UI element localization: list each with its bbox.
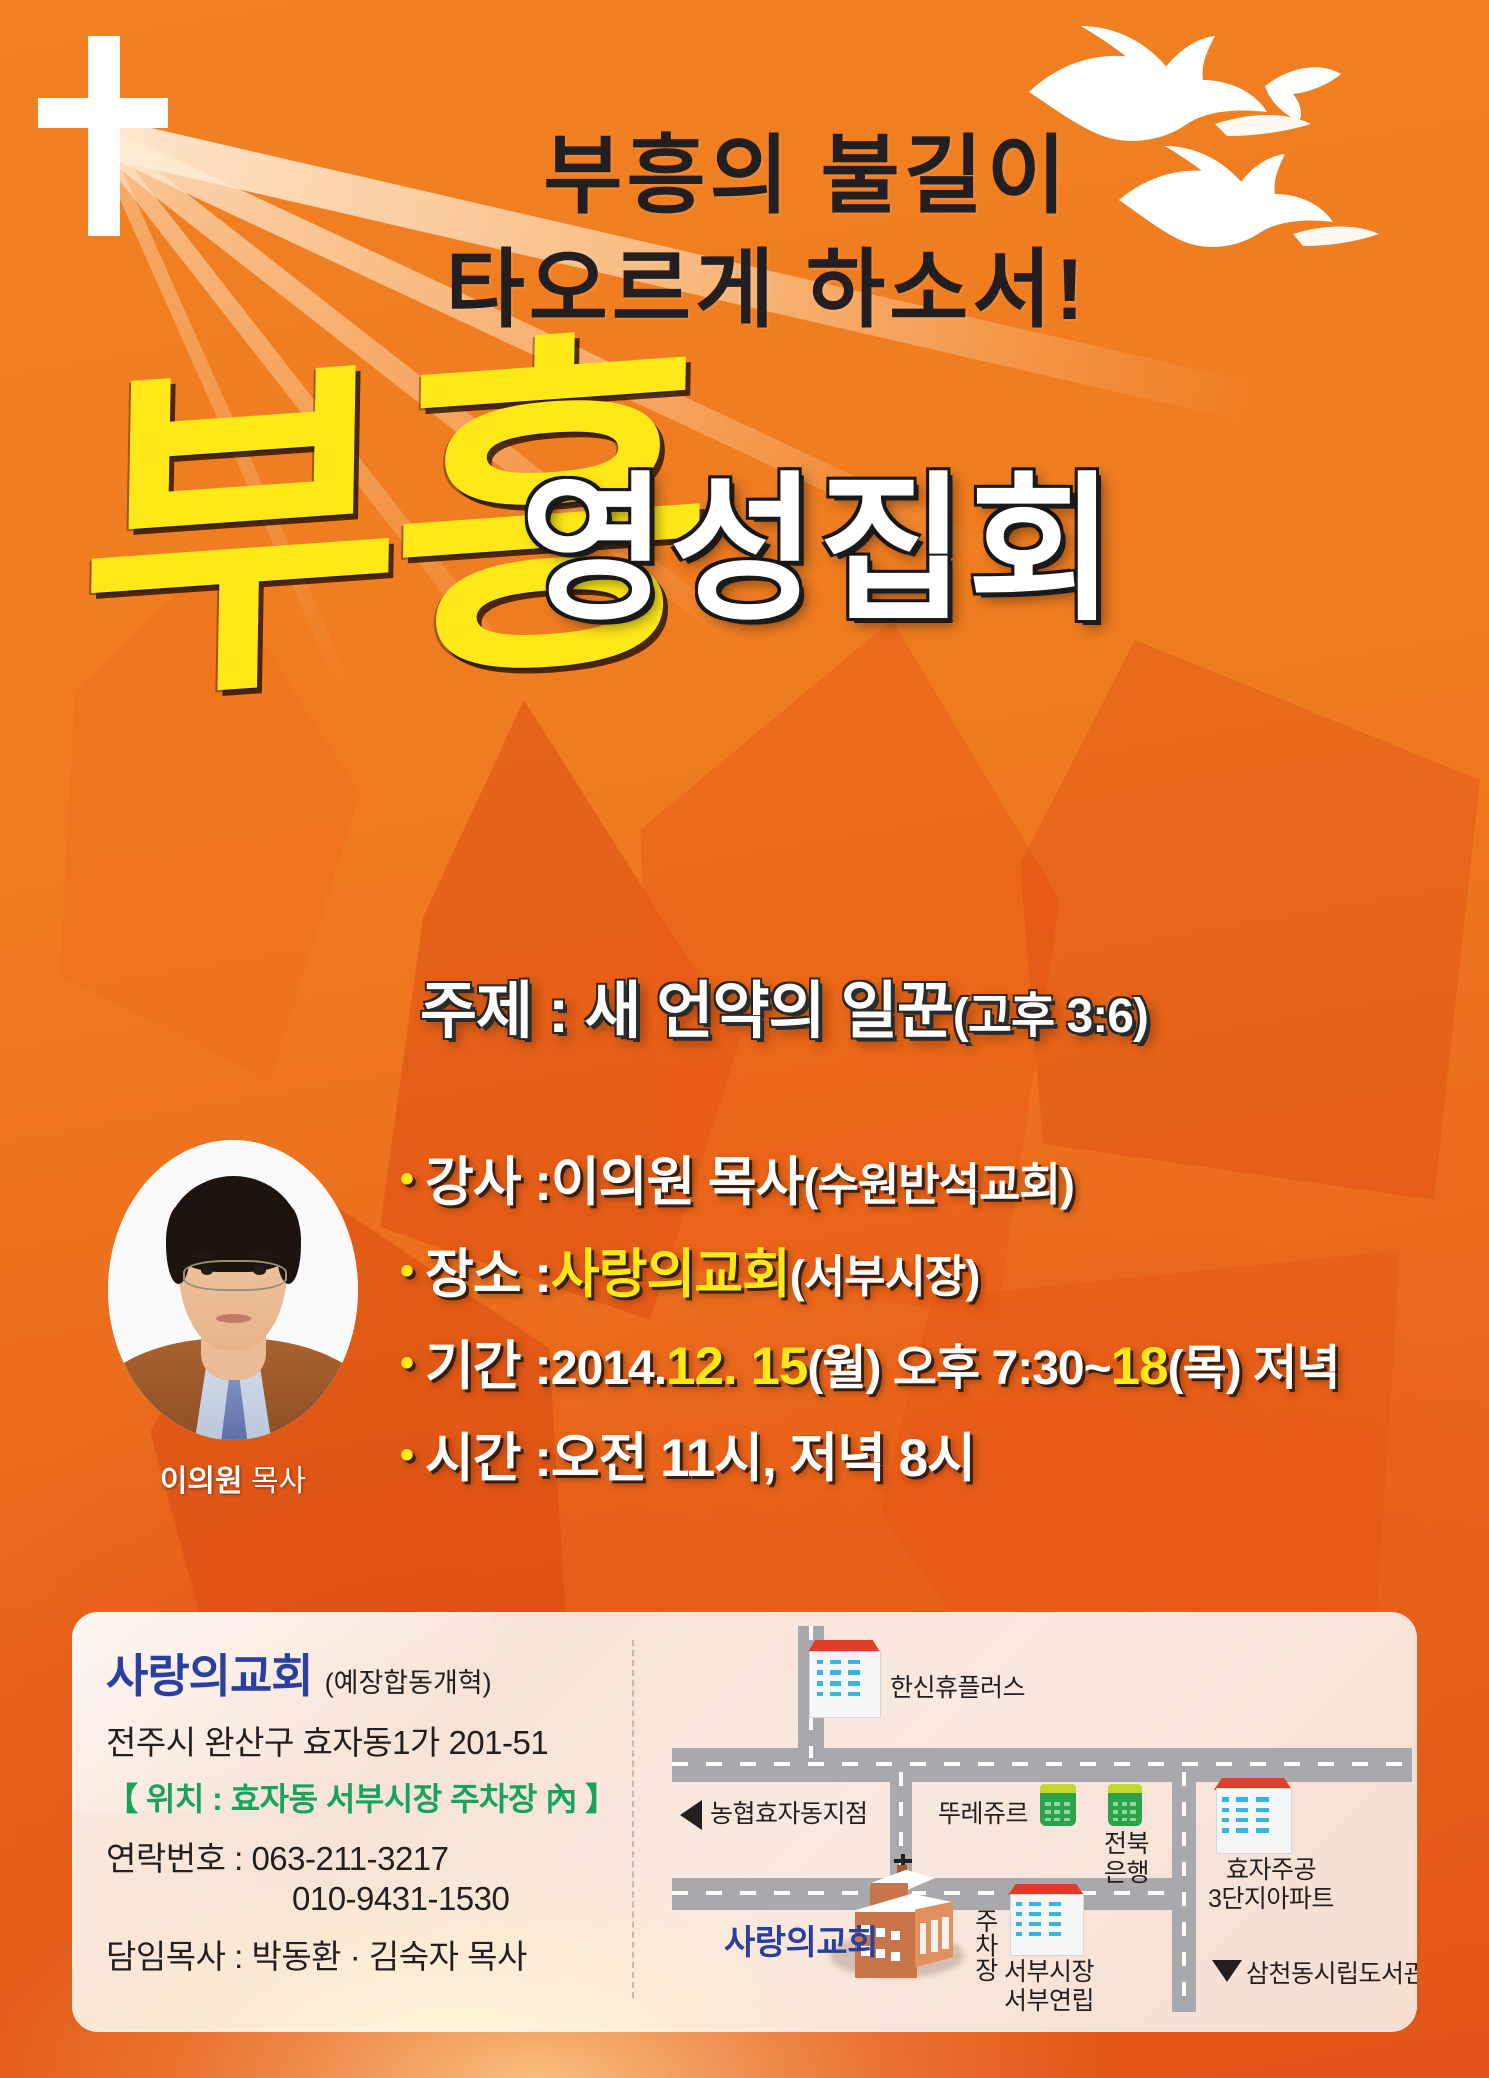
speaker-photo-caption: 이의원 목사 [88, 1456, 378, 1500]
speaker-photo [108, 1140, 358, 1440]
detail-value-place: 사랑의교회 [551, 1232, 790, 1308]
road-vertical-right [1172, 1772, 1196, 2012]
info-tel-1: 063-211-3217 [251, 1840, 448, 1877]
church-info: 사랑의교회 (예장합동개혁) 전주시 완산구 효자동1가 201-51 【 위치… [106, 1640, 626, 1978]
map-label-jeonbuk-bank: 전북 은행 [1104, 1830, 1149, 1888]
info-telephone-primary: 연락번호 : 063-211-3217 [106, 1832, 626, 1880]
detail-end-date: 18 [1111, 1336, 1168, 1397]
detail-end-day: (목) 저녁 [1168, 1328, 1340, 1398]
detail-value-speaker: 이의원 목사 [551, 1140, 804, 1216]
speaker-title: 목사 [243, 1465, 307, 1498]
info-pastor-label: 담임목사 : [106, 1938, 251, 1975]
theme-reference: (고후 3:6) [953, 990, 1148, 1043]
info-panel: 사랑의교회 (예장합동개혁) 전주시 완산구 효자동1가 201-51 【 위치… [72, 1612, 1417, 2032]
map-label-hyoja-apt: 효자주공 3단지아파트 [1208, 1856, 1334, 1914]
shop-icon-jeonbuk-bank [1108, 1784, 1142, 1826]
map-label-tous: 뚜레쥬르 [938, 1800, 1028, 1829]
detail-label-place: 장소 : [425, 1232, 551, 1308]
theme-line: 주제 : 새 언약의 일꾼(고후 3:6) [420, 960, 1148, 1050]
bullet-icon: • [400, 1435, 413, 1475]
speaker-name: 이의원 [160, 1465, 243, 1498]
map-label-hanshin: 한신휴플러스 [890, 1674, 1025, 1703]
info-tel-label: 연락번호 : [106, 1840, 251, 1877]
bullet-icon: • [400, 1159, 413, 1199]
detail-start-day: (월) 오후 7:30~ [807, 1328, 1110, 1398]
detail-row-speaker: • 강사 : 이의원 목사 (수원반석교회) [400, 1140, 1460, 1216]
bullet-icon: • [400, 1343, 413, 1383]
revival-meeting-poster: 부흥의 불길이 타오르게 하소서! 부흥 영성집회 주제 : 새 언약의 일꾼(… [0, 0, 1489, 2078]
map-label-nonghyup: 농협효자동지점 [710, 1800, 868, 1829]
panel-divider [632, 1640, 634, 1998]
info-pastor: 담임목사 : 박동환 · 김숙자 목사 [106, 1930, 626, 1978]
location-map: 한신휴플러스 농협효자동지점 뚜레쥬르 [652, 1622, 1409, 2026]
detail-paren-speaker: (수원반석교회) [803, 1148, 1073, 1213]
info-address: 전주시 완산구 효자동1가 201-51 [106, 1716, 626, 1764]
detail-label-period: 기간 : [425, 1324, 551, 1400]
info-pastor-names: 박동환 · 김숙자 목사 [251, 1938, 526, 1975]
map-label-seobu: 서부시장 서부연립 [1004, 1958, 1094, 2016]
shop-icon-tous [1040, 1784, 1076, 1826]
apartment-icon-hyoja [1214, 1778, 1292, 1852]
map-label-library: 삼천동시립도서관 [1246, 1960, 1417, 1989]
bullet-icon: • [400, 1251, 413, 1291]
map-label-church: 사랑의교회 [724, 1924, 878, 1963]
detail-year: 2014. [551, 1341, 666, 1396]
detail-row-period: • 기간 : 2014. 12. 15 (월) 오후 7:30~ 18 (목) … [400, 1324, 1460, 1400]
detail-value-time: 오전 11시, 저녁 8시 [551, 1416, 975, 1492]
arrow-left-icon [680, 1800, 702, 1830]
white-title-yeongseongjiphoe: 영성집회 [520, 470, 1117, 630]
info-location-note: 【 위치 : 효자동 서부시장 주차장 內 】 [106, 1774, 626, 1820]
detail-row-place: • 장소 : 사랑의교회 (서부시장) [400, 1232, 1460, 1308]
road-horizontal-upper [672, 1748, 1412, 1782]
map-label-parking: 주차장 [970, 1908, 999, 1982]
detail-row-time: • 시간 : 오전 11시, 저녁 8시 [400, 1416, 1460, 1492]
theme-label: 주제 : [420, 977, 584, 1046]
theme-value: 새 언약의 일꾼 [584, 977, 953, 1046]
headline-line-1: 부흥의 불길이 [0, 120, 1110, 234]
event-details: • 강사 : 이의원 목사 (수원반석교회) • 장소 : 사랑의교회 (서부시… [400, 1140, 1460, 1508]
arrow-down-icon [1212, 1960, 1242, 1982]
info-church-name: 사랑의교회 [106, 1640, 313, 1706]
apartment-icon-hanshin [808, 1640, 880, 1716]
info-denomination: (예장합동개혁) [325, 1661, 492, 1700]
detail-label-time: 시간 : [425, 1416, 551, 1492]
apartment-icon-seobu [1008, 1884, 1084, 1954]
detail-paren-place: (서부시장) [790, 1240, 980, 1305]
church-building-icon [848, 1854, 960, 1986]
detail-start-date: 12. 15 [666, 1336, 807, 1397]
info-telephone-secondary: 010-9431-1530 [292, 1880, 626, 1918]
detail-label-speaker: 강사 : [425, 1140, 551, 1216]
